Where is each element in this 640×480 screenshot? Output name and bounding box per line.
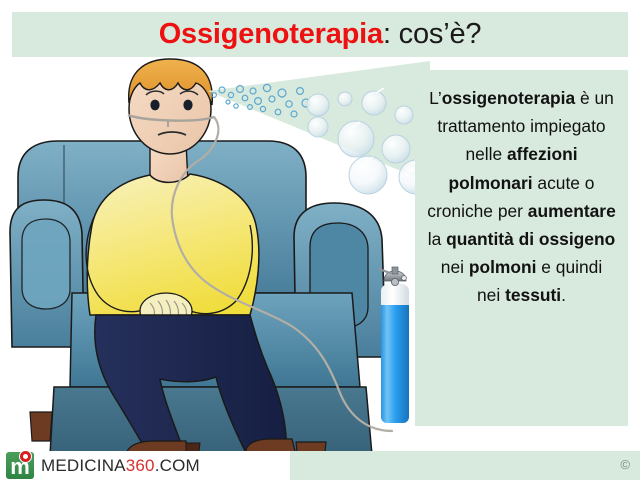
brand-wordmark[interactable]: MEDICINA360.COM	[41, 455, 200, 477]
brand-number: 360	[126, 456, 155, 475]
slide-canvas: Ossigenoterapia: cos’è? L’ossigenoterapi…	[0, 0, 640, 480]
page-title: Ossigenoterapia: cos’è?	[159, 20, 482, 49]
copyright-symbol: ©	[620, 457, 630, 473]
page-title-highlight: Ossigenoterapia	[159, 18, 383, 50]
oxygen-breath-cone	[190, 57, 430, 232]
info-panel: L’ossigenoterapia è un trattamento impie…	[415, 70, 628, 426]
info-panel-text: L’ossigenoterapia è un trattamento impie…	[427, 84, 616, 310]
brand-suffix: .COM	[155, 456, 200, 475]
medicina360-logo-icon[interactable]: m	[6, 452, 34, 479]
oxygen-tank	[375, 265, 415, 430]
slide-title-bar: Ossigenoterapia: cos’è?	[12, 12, 628, 57]
logo-red-dot-icon	[19, 450, 32, 463]
brand-prefix: MEDICINA	[41, 456, 126, 475]
page-title-rest: : cos’è?	[383, 18, 481, 50]
